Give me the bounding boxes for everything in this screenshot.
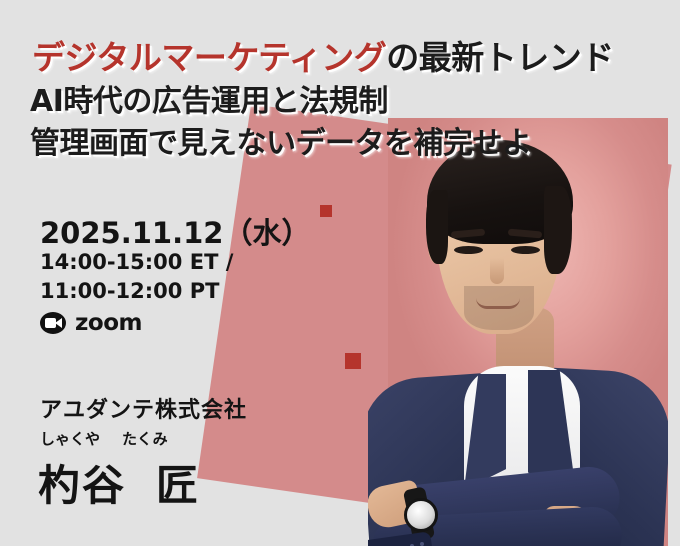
title-highlight-text: デジタルマーケティング bbox=[32, 38, 386, 77]
title-line-3: 管理画面で見えないデータを補完せよ bbox=[30, 118, 532, 162]
platform-label: zoom bbox=[75, 310, 142, 336]
event-time-et: 14:00-15:00 ET / bbox=[40, 250, 233, 274]
speaker-name-given: 匠 bbox=[156, 461, 200, 510]
speaker-furigana: しゃくやたくみ bbox=[40, 428, 168, 449]
speaker-company: アユダンテ株式会社 bbox=[40, 392, 247, 424]
text-layer: デジタルマーケティングの最新トレンド AI時代の広告運用と法規制 管理画面で見え… bbox=[0, 0, 680, 546]
title-line-1: デジタルマーケティングの最新トレンド bbox=[32, 31, 614, 79]
title-line-1-rest: の最新トレンド bbox=[386, 38, 614, 77]
furigana-family: しゃくや bbox=[40, 430, 100, 448]
title-line-2: AI時代の広告運用と法規制 bbox=[30, 76, 388, 120]
zoom-video-camera-icon bbox=[40, 312, 66, 334]
furigana-given: たくみ bbox=[122, 430, 168, 448]
event-date: 2025.11.12（水） bbox=[40, 210, 310, 252]
platform-row: zoom bbox=[40, 310, 142, 336]
event-time-pt: 11:00-12:00 PT bbox=[40, 279, 219, 303]
speaker-name-family: 杓谷 bbox=[38, 461, 126, 510]
speaker-name: 杓谷匠 bbox=[38, 452, 200, 513]
webinar-poster: デジタルマーケティングの最新トレンド AI時代の広告運用と法規制 管理画面で見え… bbox=[0, 0, 680, 546]
